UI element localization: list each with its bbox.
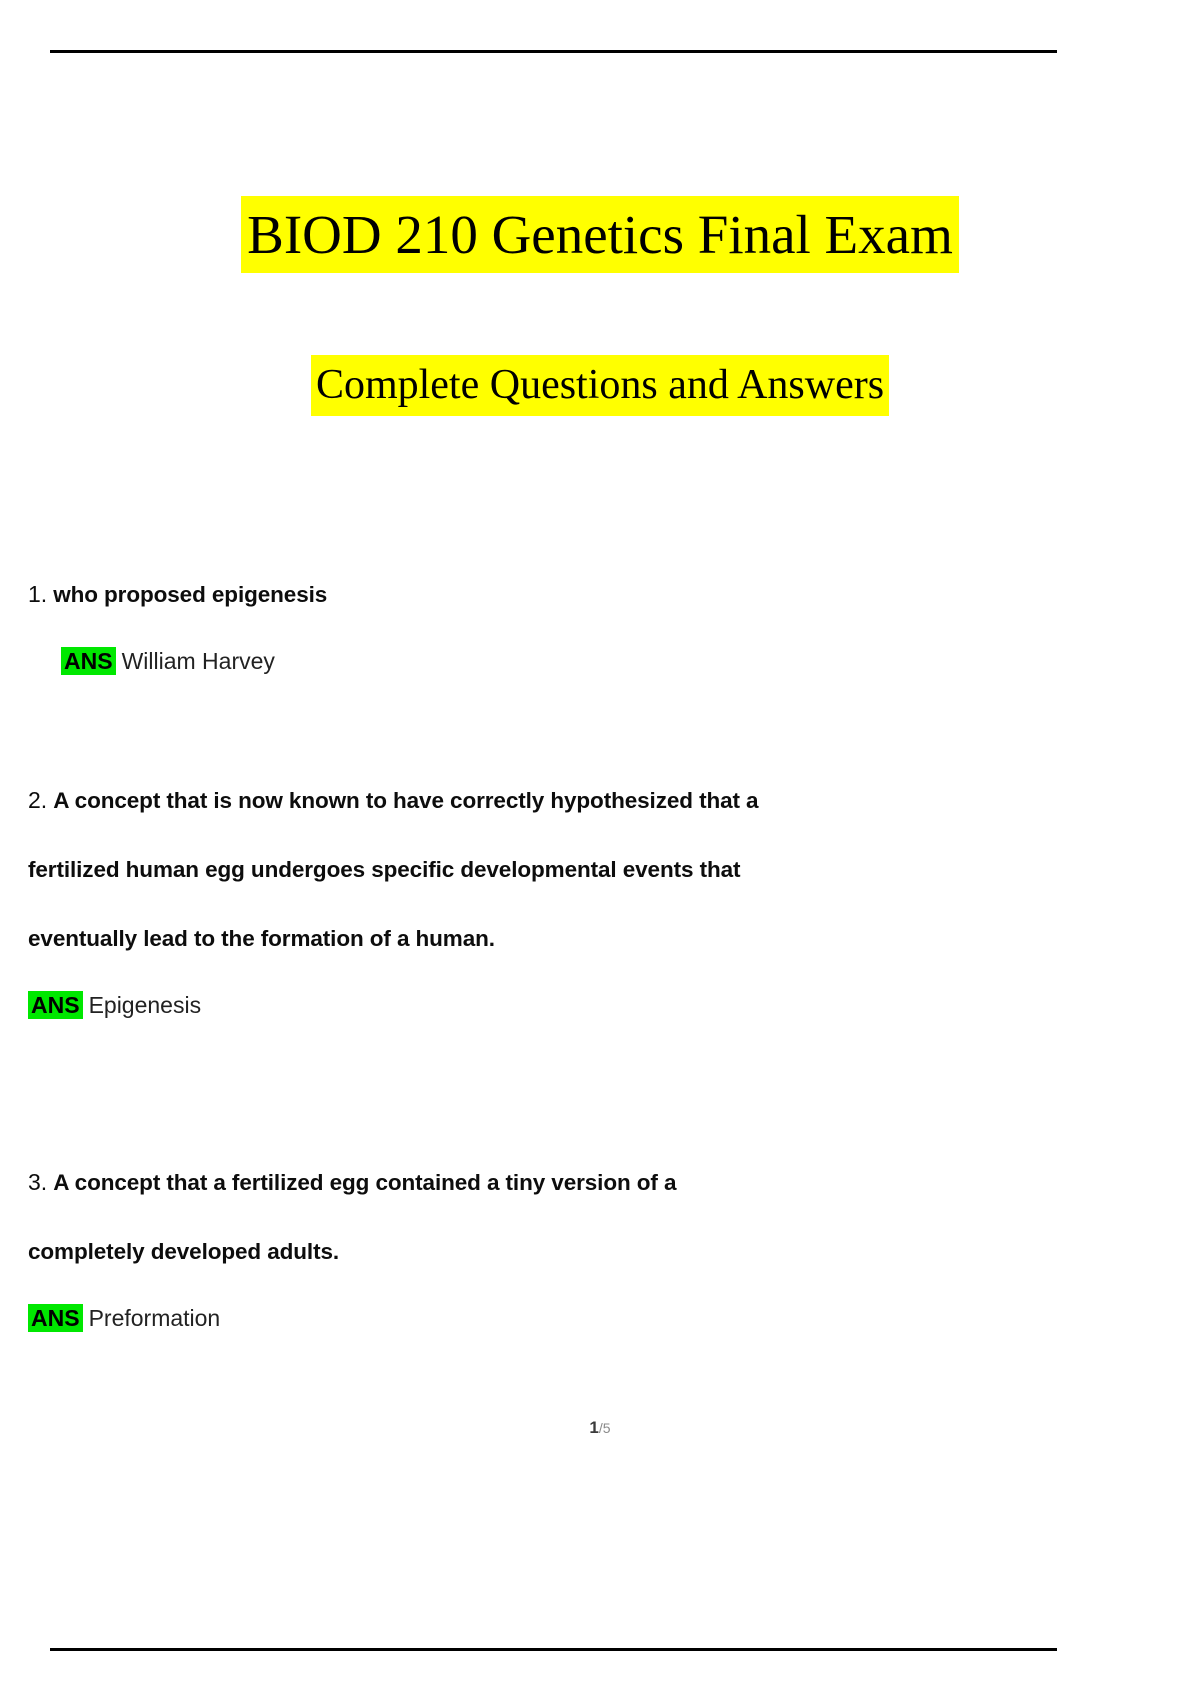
question-line: 2. A concept that is now known to have c… [28, 766, 758, 835]
page-top-rule [50, 50, 1057, 53]
question-text: who proposed epigenesis [53, 560, 327, 629]
question-line: 1. who proposed epigenesis [28, 560, 327, 629]
document-subtitle-block: Complete Questions and Answers [0, 355, 1200, 416]
page-title: BIOD 210 Genetics Final Exam [241, 196, 959, 273]
question-item: 2. A concept that is now known to have c… [28, 766, 758, 1037]
answer-line: ANSWilliam Harvey [28, 629, 327, 693]
question-item: 1. who proposed epigenesis ANSWilliam Ha… [28, 560, 327, 693]
footer-current-page: 1 [589, 1418, 598, 1437]
answer-text: Epigenesis [83, 992, 202, 1018]
question-text: fertilized human egg undergoes specific … [28, 835, 740, 904]
page-subtitle: Complete Questions and Answers [311, 355, 889, 416]
answer-line: ANSPreformation [28, 1286, 676, 1350]
page-footer: 1/5 [0, 1418, 1200, 1438]
answer-label-badge: ANS [61, 647, 116, 675]
answer-text: William Harvey [116, 648, 275, 674]
question-line-continued: fertilized human egg undergoes specific … [28, 835, 758, 904]
question-text: A concept that is now known to have corr… [53, 766, 758, 835]
document-page: BIOD 210 Genetics Final Exam Complete Qu… [0, 0, 1200, 1700]
answer-text: Preformation [83, 1305, 221, 1331]
answer-line: ANSEpigenesis [28, 973, 758, 1037]
question-line-continued: eventually lead to the formation of a hu… [28, 904, 758, 973]
page-bottom-rule [50, 1648, 1057, 1651]
question-number: 1. [28, 560, 53, 629]
question-number: 2. [28, 766, 53, 835]
question-item: 3. A concept that a fertilized egg conta… [28, 1148, 676, 1350]
question-text: A concept that a fertilized egg containe… [53, 1148, 676, 1217]
question-line-continued: completely developed adults. [28, 1217, 676, 1286]
footer-total-pages: 5 [603, 1420, 611, 1436]
question-line: 3. A concept that a fertilized egg conta… [28, 1148, 676, 1217]
answer-label-badge: ANS [28, 991, 83, 1019]
document-title-block: BIOD 210 Genetics Final Exam [0, 196, 1200, 273]
question-text: eventually lead to the formation of a hu… [28, 904, 495, 973]
question-text: completely developed adults. [28, 1217, 339, 1286]
question-number: 3. [28, 1148, 53, 1217]
answer-label-badge: ANS [28, 1304, 83, 1332]
